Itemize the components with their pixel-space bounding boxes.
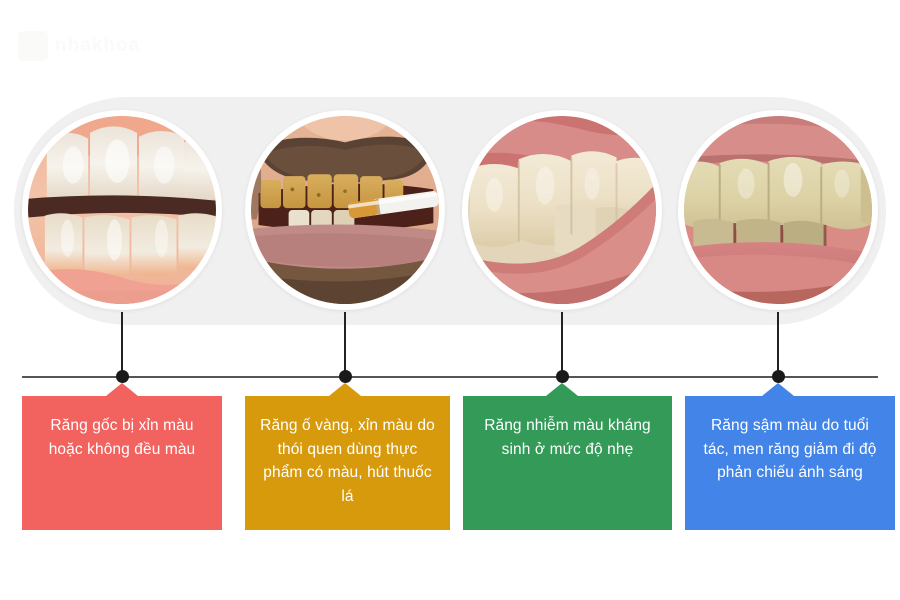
teeth-side-view-tetracycline-image [468, 116, 656, 304]
timeline-dot-1 [116, 370, 129, 383]
timeline-dot-2 [339, 370, 352, 383]
caption-box-4[interactable]: Răng sậm màu do tuổi tác, men răng giảm … [685, 396, 895, 530]
caption-text-4: Răng sậm màu do tuổi tác, men răng giảm … [699, 414, 881, 485]
caption-box-1[interactable]: Răng gốc bị xỉn màu hoặc không đều màu [22, 396, 222, 530]
photo-circle-2 [245, 110, 445, 310]
caption-arrow-3 [546, 383, 578, 396]
photo-circle-row [0, 0, 900, 360]
caption-text-1: Răng gốc bị xỉn màu hoặc không đều màu [36, 414, 208, 461]
connector-line-2 [344, 312, 346, 377]
teeth-closeup-discolored-image [28, 116, 216, 304]
caption-arrow-2 [329, 383, 361, 396]
connector-line-3 [561, 312, 563, 377]
timeline-dot-4 [772, 370, 785, 383]
smoker-yellow-teeth-cigarette-image [251, 116, 439, 304]
caption-box-2[interactable]: Răng ố vàng, xỉn màu do thói quen dùng t… [245, 396, 450, 530]
caption-text-2: Răng ố vàng, xỉn màu do thói quen dùng t… [259, 414, 436, 508]
aged-darkened-teeth-graphic [684, 116, 872, 304]
caption-text-3: Răng nhiễm màu kháng sinh ở mức độ nhẹ [477, 414, 658, 461]
connector-line-4 [777, 312, 779, 377]
photo-circle-1 [22, 110, 222, 310]
aged-darkened-teeth-image [684, 116, 872, 304]
teeth-closeup-discolored-graphic [28, 116, 216, 304]
timeline-dot-3 [556, 370, 569, 383]
caption-box-3[interactable]: Răng nhiễm màu kháng sinh ở mức độ nhẹ [463, 396, 672, 530]
caption-arrow-4 [762, 383, 794, 396]
teeth-side-view-tetracycline-graphic [468, 116, 656, 304]
timeline-axis [22, 376, 878, 378]
connector-line-1 [121, 312, 123, 377]
smoker-yellow-teeth-cigarette-graphic [251, 116, 439, 304]
photo-circle-4 [678, 110, 878, 310]
caption-arrow-1 [106, 383, 138, 396]
photo-circle-3 [462, 110, 662, 310]
